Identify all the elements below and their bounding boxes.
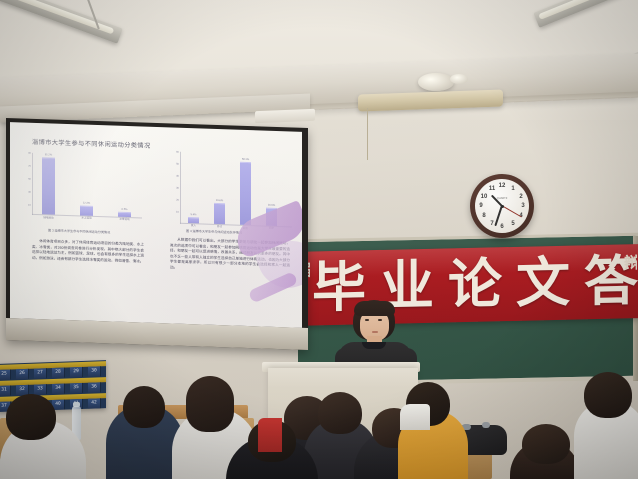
y-tick-label: 70 [22,165,31,168]
y-tick-label: 50 [170,162,179,165]
audience-head [318,392,362,434]
presenter-eye [365,319,369,321]
chart-left: 90 70 50 30 10 81.2% 陆地运动 12.3% 水上运动 6.5… [32,153,142,219]
projection-screen: 淄博市大学生参与不同休闲运动分类情况 90 70 50 30 10 81.2% … [6,118,308,350]
clock-center-pin [501,205,504,208]
bar: 81.2% 陆地运动 [42,157,55,214]
bar: 19.6% 自己 [214,203,225,224]
y-tick-label: 60 [170,150,179,153]
audience-hood [400,404,430,430]
organizer-cell: 28 [52,368,65,378]
y-axis [32,153,33,215]
bar-category-label: 冰雪运动 [119,217,129,221]
y-tick-label: 30 [22,191,31,194]
bar-category-label: 水上运动 [81,216,91,220]
clock-numeral: 12 [498,182,506,190]
audience-head [123,386,165,428]
clock-numeral: 5 [509,220,517,228]
banner-text-clipped-right: 辩 [624,254,637,312]
organizer-cell: 25 [0,369,11,379]
organizer-cell: 31 [0,385,11,395]
slide-title: 淄博市大学生参与不同休闲运动分类情况 [32,137,151,150]
slide-surface: 淄博市大学生参与不同休闲运动分类情况 90 70 50 30 10 81.2% … [10,122,302,328]
organizer-cell: 35 [70,383,83,393]
organizer-cell: 34 [52,384,65,394]
y-tick-label: 90 [22,152,31,155]
presenter-hair-fringe [354,301,395,316]
bar-category-label: 陆地运动 [43,215,53,219]
clock-numeral: 10 [480,193,488,201]
y-tick-label: 20 [170,198,179,201]
clock-numeral: 3 [519,202,527,210]
organizer-cell: 33 [34,384,47,394]
y-tick-label: 10 [22,204,31,207]
bar: 12.3% 水上运动 [80,205,93,215]
clock-numeral: 9 [477,202,485,210]
bar-category-label: 自己 [217,224,222,228]
bar-value-label: 12.3% [83,202,90,205]
bar-category-label: 家人 [191,223,196,227]
ceiling-dome-light [418,73,454,91]
y-tick-label: 30 [170,186,179,189]
clock-numeral: 6 [498,223,506,231]
figure-caption-left: 图 3 淄博市大学生参与不同休闲运动分类情况 [48,227,110,234]
bar: 5.4% 家人 [188,217,199,223]
classroom-photo: 届 毕业论文答 辩 12 1 2 3 4 5 6 7 8 9 10 11 QUA… [0,0,638,479]
clock-numeral: 1 [509,185,517,193]
figure-caption-right: 图 4 淄博市大学生参与休闲运动伙伴情况 [186,228,242,235]
clock-numeral: 11 [488,185,496,193]
y-axis [180,152,181,224]
y-tick-label: 40 [170,174,179,177]
bar-value-label: 58.1% [242,158,249,161]
organizer-cell: 36 [88,382,101,392]
audience-head [584,372,632,418]
screen-track-box [255,109,315,124]
presenter-collar [362,342,386,349]
organizer-cell: 29 [70,367,83,377]
backpack-clip [482,422,490,428]
bar-value-label: 5.4% [191,213,197,216]
presenter-mouth [372,331,378,333]
audience-head [186,376,234,432]
organizer-cell: 30 [88,366,101,376]
presenter-eye [378,319,382,321]
audience-head [522,424,570,464]
bar-value-label: 6.5% [122,208,128,211]
wall-clock: 12 1 2 3 4 5 6 7 8 9 10 11 QUARTZ [470,174,534,238]
clock-numeral: 8 [480,212,488,220]
slide-body-left: 休闲体育项目众多，对了休闲体育运动项目的分类为陆地类、水上类、冰雪类，对260份… [32,239,144,265]
audience-head [6,394,56,440]
bar-value-label: 81.2% [45,153,52,156]
audience-red-jacket [258,418,282,452]
clock-numeral: 2 [517,193,525,201]
bar-value-label: 19.6% [216,199,223,202]
organizer-cell: 27 [34,368,47,378]
screen-pull-cord[interactable] [367,108,368,160]
organizer-cell: 26 [16,369,29,379]
bar: 6.5% 冰雪运动 [118,212,131,217]
ceiling-dome-light [450,74,468,84]
bar: 58.1% 朋友 [240,162,251,225]
bar-value-label: 16.9% [268,204,275,207]
organizer-cell: 42 [88,398,101,408]
clock-face: 12 1 2 3 4 5 6 7 8 9 10 11 QUARTZ [475,179,529,233]
y-tick-label: 10 [170,210,179,213]
y-tick-label: 50 [22,178,31,181]
